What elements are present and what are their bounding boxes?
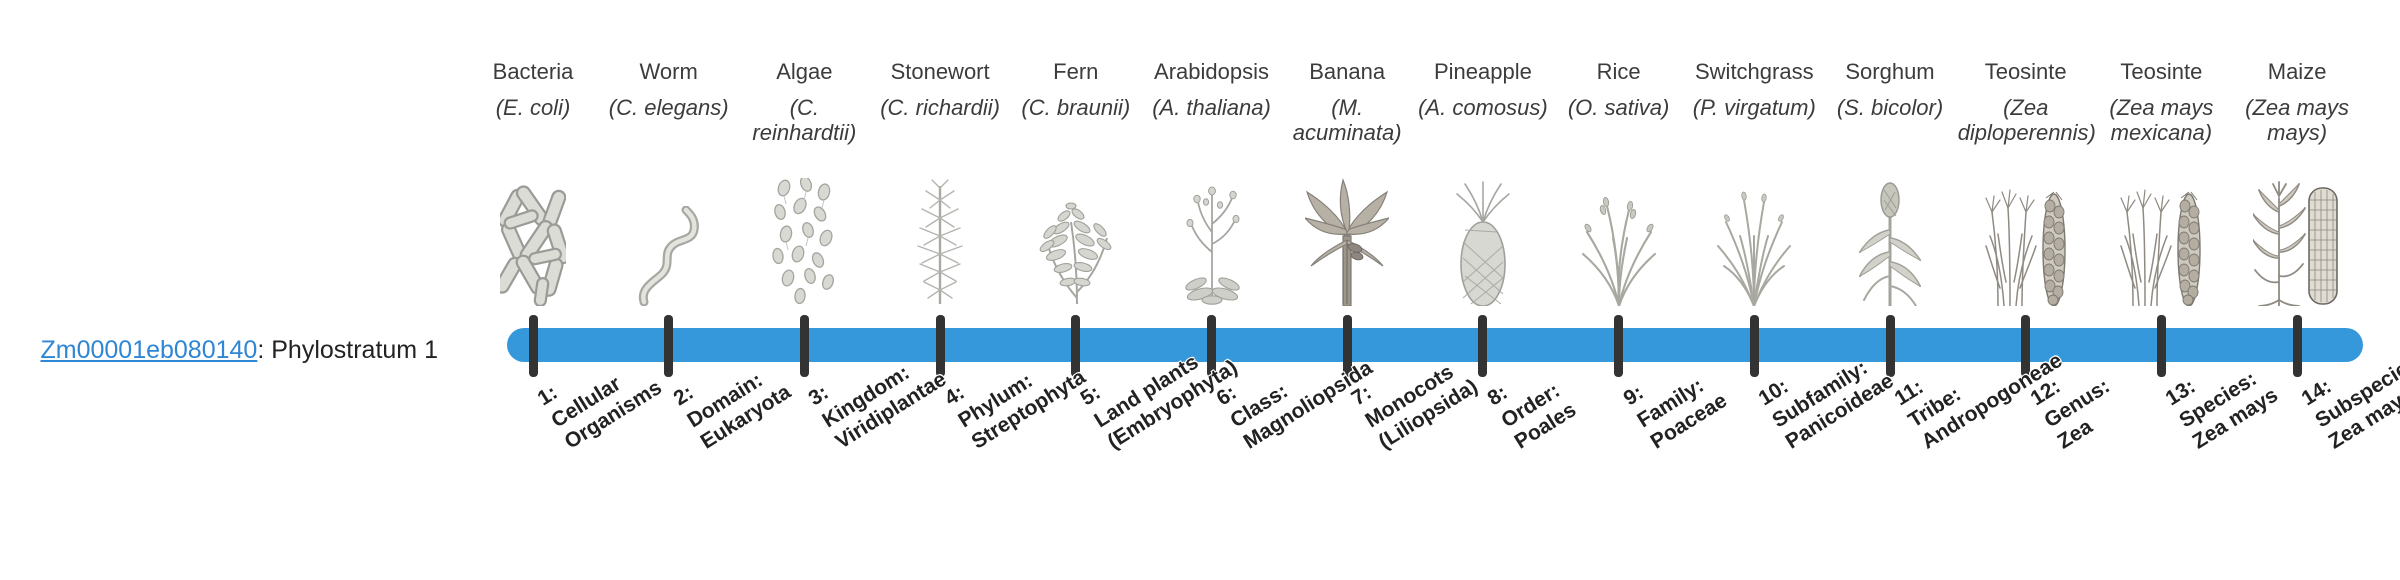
fern-illustration (1008, 166, 1144, 306)
species-scientific-name: (A. thaliana) (1144, 96, 1280, 121)
species-common-name: Rice (1551, 60, 1687, 85)
species-common-name: Teosinte (2093, 60, 2229, 85)
species-scientific-name: (C. richardii) (872, 96, 1008, 121)
species-common-name: Teosinte (1958, 60, 2094, 85)
species-column: Worm(C. elegans)2: Domain: Eukaryota (601, 0, 737, 580)
species-scientific-name: (Zea mays mays) (2229, 96, 2365, 145)
species-common-name: Algae (736, 60, 872, 85)
species-scientific-name: (C. elegans) (601, 96, 737, 121)
species-column: Sorghum(S. bicolor)11: Tribe: Andropogon… (1822, 0, 1958, 580)
species-column: Teosinte(Zea mays mexicana)13: Species: … (2093, 0, 2229, 580)
species-common-name: Banana (1279, 60, 1415, 85)
species-common-name: Switchgrass (1686, 60, 1822, 85)
species-common-name: Fern (1008, 60, 1144, 85)
row-separator: : (257, 336, 271, 364)
species-column: Bacteria(E. coli)1: Cellular Organisms (465, 0, 601, 580)
species-column: Pineapple(A. comosus)8: Order: Poales (1415, 0, 1551, 580)
arabidopsis-illustration (1144, 166, 1280, 306)
pineapple-illustration (1415, 166, 1551, 306)
bacteria-illustration (465, 166, 601, 306)
species-common-name: Worm (601, 60, 737, 85)
teosinte-illustration (2093, 166, 2229, 306)
species-column: Rice(O. sativa)9: Family: Poaceae (1551, 0, 1687, 580)
species-scientific-name: (A. comosus) (1415, 96, 1551, 121)
species-common-name: Sorghum (1822, 60, 1958, 85)
gene-id-link[interactable]: Zm00001eb080140 (40, 336, 257, 364)
stonewort-illustration (872, 166, 1008, 306)
sorghum-illustration (1822, 166, 1958, 306)
species-scientific-name: (M. acuminata) (1279, 96, 1415, 145)
banana-illustration (1279, 166, 1415, 306)
algae-illustration (736, 166, 872, 306)
species-scientific-name: (Zea mays mexicana) (2093, 96, 2229, 145)
species-scientific-name: (O. sativa) (1551, 96, 1687, 121)
species-scientific-name: (S. bicolor) (1822, 96, 1958, 121)
teosinte-illustration (1958, 166, 2094, 306)
species-scientific-name: (E. coli) (465, 96, 601, 121)
species-common-name: Pineapple (1415, 60, 1551, 85)
rice-illustration (1551, 166, 1687, 306)
species-column: Fern(C. braunii)5: Land plants (Embryoph… (1008, 0, 1144, 580)
species-scientific-name: (C. braunii) (1008, 96, 1144, 121)
gene-row-label: Zm00001eb080140: Phylostratum 1 (18, 338, 438, 363)
species-column: Switchgrass(P. virgatum)10: Subfamily: P… (1686, 0, 1822, 580)
phylostratum-value: Phylostratum 1 (271, 336, 438, 364)
species-column: Stonewort(C. richardii)4: Phylum: Strept… (872, 0, 1008, 580)
species-scientific-name: (P. virgatum) (1686, 96, 1822, 121)
species-column: Arabidopsis(A. thaliana)6: Class: Magnol… (1144, 0, 1280, 580)
species-common-name: Bacteria (465, 60, 601, 85)
species-scientific-name: (C. reinhardtii) (736, 96, 872, 145)
worm-illustration (601, 166, 737, 306)
species-common-name: Maize (2229, 60, 2365, 85)
species-column: Banana(M. acuminata)7: Monocots (Liliops… (1279, 0, 1415, 580)
species-common-name: Stonewort (872, 60, 1008, 85)
phylostratigraphy-figure: Zm00001eb080140: Phylostratum 1 Bacteria… (0, 0, 2400, 580)
species-column: Algae(C. reinhardtii)3: Kingdom: Viridip… (736, 0, 872, 580)
species-common-name: Arabidopsis (1144, 60, 1280, 85)
species-column: Teosinte(Zea diploperennis)12: Genus: Ze… (1958, 0, 2094, 580)
species-scientific-name: (Zea diploperennis) (1958, 96, 2094, 145)
switchgrass-illustration (1686, 166, 1822, 306)
maize-illustration (2229, 166, 2365, 306)
species-column: Maize(Zea mays mays)14: Subspecies: Zea … (2229, 0, 2365, 580)
